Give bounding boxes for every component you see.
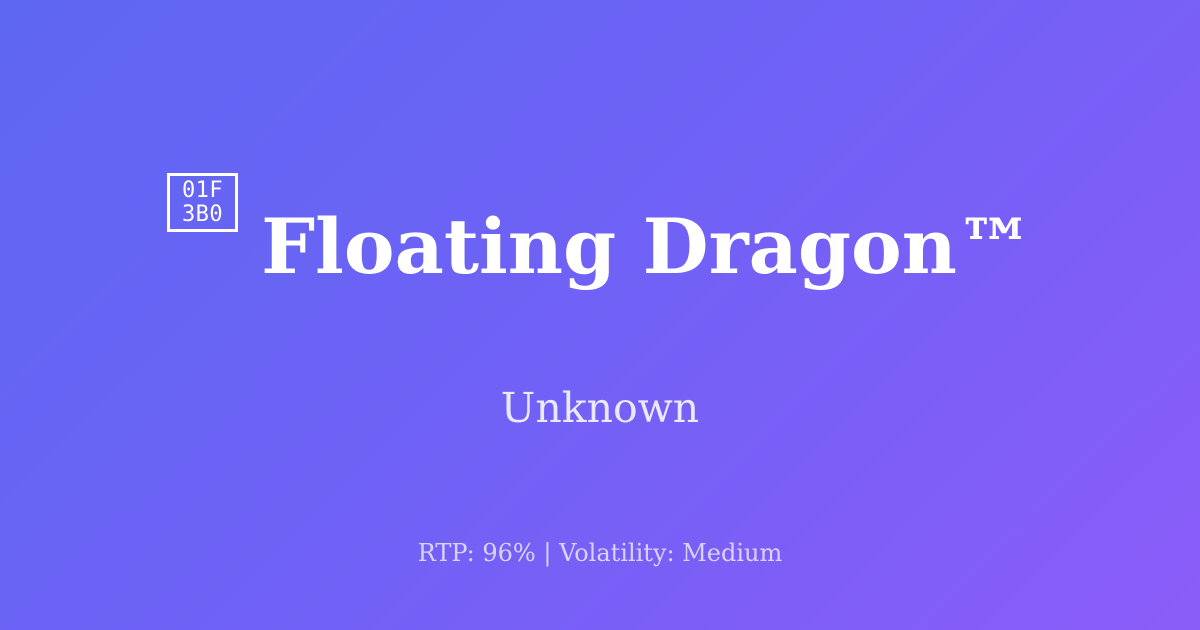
og-share-card: 01F 3B0 Floating Dragon™ Unknown RTP: 96… [0,0,1200,630]
title-row: 01F 3B0 Floating Dragon™ [0,152,1200,342]
slot-machine-icon-codepoint-top: 01F [182,179,223,203]
slot-machine-icon: 01F 3B0 [167,173,238,232]
page-title: Floating Dragon™ [261,203,1033,291]
game-provider-subtitle: Unknown [501,384,699,432]
card-center-stack: 01F 3B0 Floating Dragon™ Unknown [0,152,1200,432]
slot-machine-icon-codepoint-bottom: 3B0 [182,203,223,227]
game-stats-footer: RTP: 96% | Volatility: Medium [0,538,1200,568]
